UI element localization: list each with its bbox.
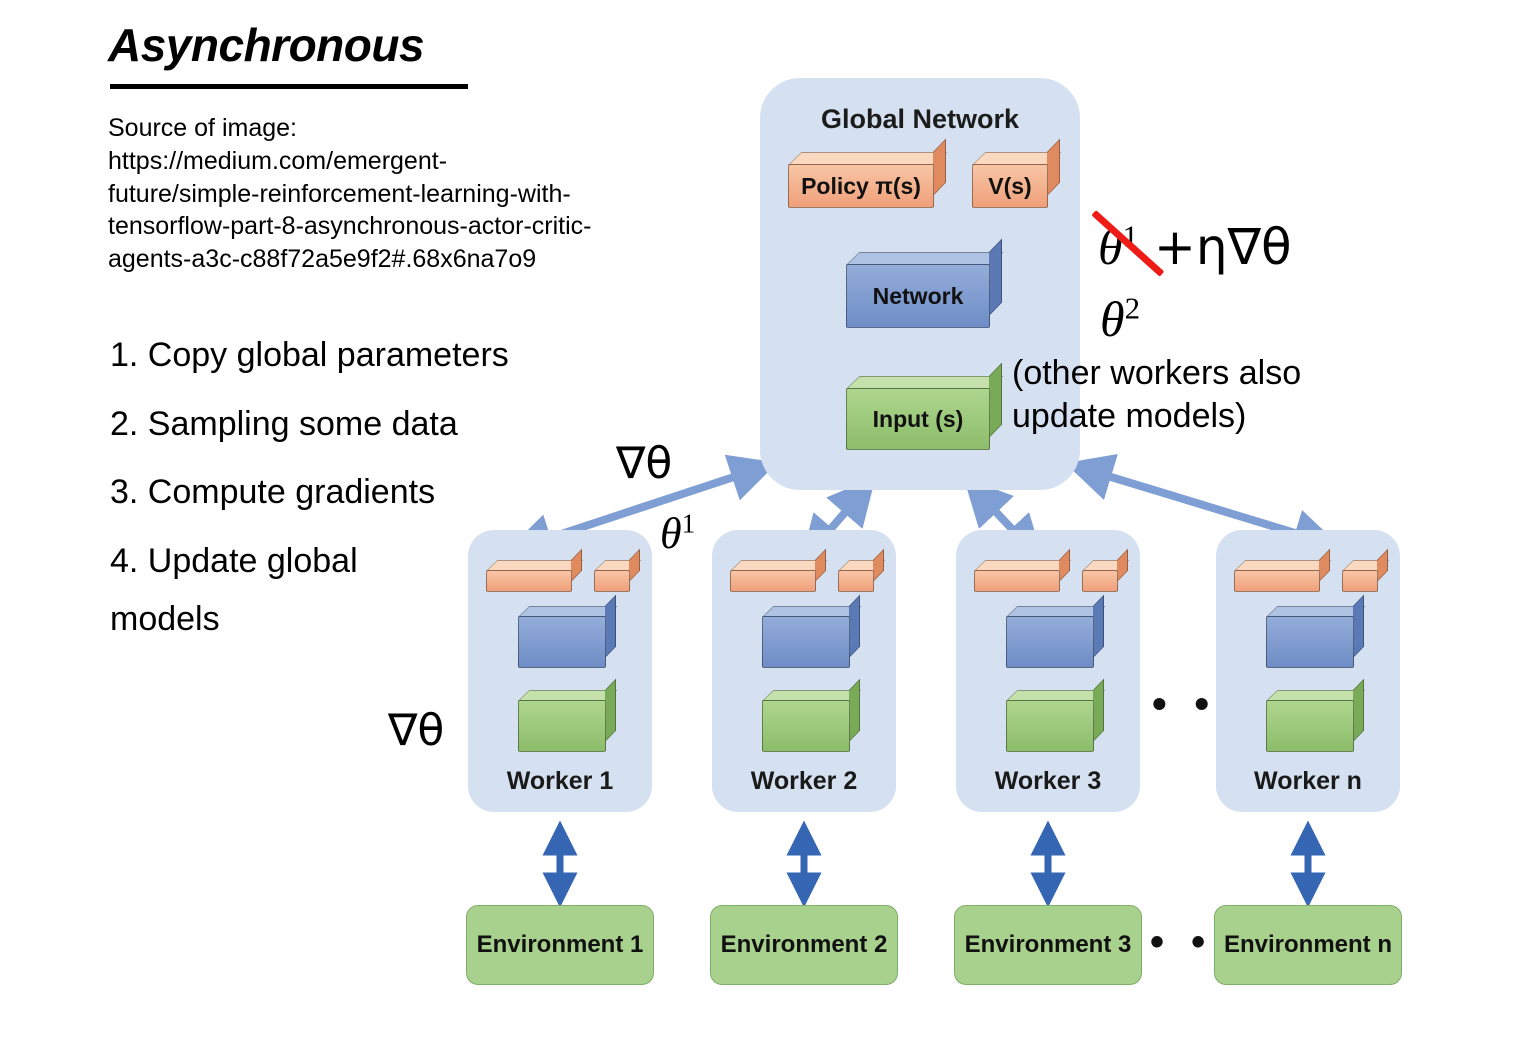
policy-box-label: Policy π(s) bbox=[788, 164, 934, 208]
gradient-label-top: ∇θ bbox=[616, 438, 672, 489]
input-box-label: Input (s) bbox=[846, 388, 990, 450]
worker-network-box[interactable] bbox=[518, 606, 616, 668]
worker-network-box[interactable] bbox=[1006, 606, 1104, 668]
worker-value-bar[interactable] bbox=[1082, 560, 1128, 592]
worker-environment-arrows bbox=[560, 838, 1308, 890]
box-front-face bbox=[1266, 700, 1354, 752]
box-front-face bbox=[1266, 616, 1354, 668]
box-front-face bbox=[838, 570, 874, 592]
box-front-face bbox=[730, 570, 816, 592]
box-front-face bbox=[594, 570, 630, 592]
step-item-4-continued: models bbox=[110, 600, 220, 639]
worker-value-bar[interactable] bbox=[838, 560, 884, 592]
worker-input-box[interactable] bbox=[762, 690, 860, 752]
step-item-1: 1. Copy global parameters bbox=[110, 336, 509, 375]
worker-value-bar[interactable] bbox=[594, 560, 640, 592]
theta2-replacement-label: θ2 bbox=[1100, 290, 1140, 348]
box-side-face bbox=[605, 595, 616, 658]
box-front-face bbox=[1082, 570, 1118, 592]
page-title: Asynchronous bbox=[108, 22, 424, 68]
worker-panel-3[interactable]: Worker 3 bbox=[956, 530, 1140, 812]
box-side-face bbox=[1093, 595, 1104, 658]
environment-box-3[interactable]: Environment 3 bbox=[954, 905, 1142, 985]
box-front-face bbox=[518, 700, 606, 752]
source-credit: Source of image: https://medium.com/emer… bbox=[108, 112, 748, 276]
box-side-face bbox=[605, 679, 616, 742]
other-workers-note: (other workers alsoupdate models) bbox=[1012, 352, 1301, 437]
worker-input-box[interactable] bbox=[518, 690, 616, 752]
worker-policy-bar[interactable] bbox=[974, 560, 1070, 592]
formula-remainder: +η∇θ bbox=[1138, 218, 1292, 276]
box-side-face bbox=[1319, 549, 1330, 582]
worker-network-box[interactable] bbox=[762, 606, 860, 668]
step-item-3: 3. Compute gradients bbox=[110, 473, 435, 512]
box-side-face bbox=[1059, 549, 1070, 582]
source-line: agents-a3c-c88f72a5e9f2#.68x6na7o9 bbox=[108, 243, 748, 276]
box-front-face bbox=[1234, 570, 1320, 592]
theta2-base: θ bbox=[1100, 291, 1125, 347]
source-line: Source of image: bbox=[108, 112, 748, 145]
step-item-2: 2. Sampling some data bbox=[110, 405, 458, 444]
box-side-face bbox=[1353, 595, 1364, 658]
box-side-face bbox=[989, 363, 1002, 438]
note-line-1: (other workers also bbox=[1012, 354, 1301, 392]
box-side-face bbox=[1353, 679, 1364, 742]
box-front-face bbox=[762, 700, 850, 752]
input-box[interactable]: Input (s) bbox=[846, 376, 1002, 450]
worker-policy-bar[interactable] bbox=[730, 560, 826, 592]
source-line: https://medium.com/emergent- bbox=[108, 145, 748, 178]
note-line-2: update models) bbox=[1012, 397, 1246, 435]
environment-box-2[interactable]: Environment 2 bbox=[710, 905, 898, 985]
network-box[interactable]: Network bbox=[846, 252, 1002, 328]
box-side-face bbox=[1377, 549, 1388, 582]
box-front-face bbox=[1006, 700, 1094, 752]
source-line: tensorflow-part-8-asynchronous-actor-cri… bbox=[108, 210, 748, 243]
theta1-arrow-base: θ bbox=[660, 509, 682, 558]
box-side-face bbox=[815, 549, 826, 582]
worker-network-box[interactable] bbox=[1266, 606, 1364, 668]
policy-box[interactable]: Policy π(s) bbox=[788, 152, 946, 208]
box-side-face bbox=[873, 549, 884, 582]
worker-label: Worker 2 bbox=[712, 767, 896, 796]
box-side-face bbox=[849, 595, 860, 658]
environment-box-n[interactable]: Environment n bbox=[1214, 905, 1402, 985]
worker-policy-bar[interactable] bbox=[486, 560, 582, 592]
environment-box-1[interactable]: Environment 1 bbox=[466, 905, 654, 985]
box-front-face bbox=[762, 616, 850, 668]
worker-input-box[interactable] bbox=[1266, 690, 1364, 752]
worker-panel-1[interactable]: Worker 1 bbox=[468, 530, 652, 812]
title-underline bbox=[110, 84, 468, 89]
value-box-label: V(s) bbox=[972, 164, 1048, 208]
source-line: future/simple-reinforcement-learning-wit… bbox=[108, 178, 748, 211]
box-front-face bbox=[1342, 570, 1378, 592]
worker-label: Worker 1 bbox=[468, 767, 652, 796]
box-front-face bbox=[974, 570, 1060, 592]
worker-input-box[interactable] bbox=[1006, 690, 1104, 752]
theta1-arrow-superscript: 1 bbox=[682, 508, 696, 538]
step-item-4: 4. Update global bbox=[110, 542, 358, 581]
box-side-face bbox=[1117, 549, 1128, 582]
box-side-face bbox=[989, 239, 1002, 316]
worker-policy-bar[interactable] bbox=[1234, 560, 1330, 592]
theta2-superscript: 2 bbox=[1125, 290, 1141, 325]
box-front-face bbox=[486, 570, 572, 592]
worker-label: Worker 3 bbox=[956, 767, 1140, 796]
gradient-label-left: ∇θ bbox=[388, 705, 444, 756]
value-box[interactable]: V(s) bbox=[972, 152, 1060, 208]
worker-value-bar[interactable] bbox=[1342, 560, 1388, 592]
worker-panel-2[interactable]: Worker 2 bbox=[712, 530, 896, 812]
theta1-arrow-label: θ1 bbox=[660, 508, 695, 559]
box-side-face bbox=[571, 549, 582, 582]
box-front-face bbox=[1006, 616, 1094, 668]
box-side-face bbox=[629, 549, 640, 582]
box-side-face bbox=[1093, 679, 1104, 742]
box-side-face bbox=[849, 679, 860, 742]
global-network-title: Global Network bbox=[760, 104, 1080, 135]
network-box-label: Network bbox=[846, 264, 990, 328]
worker-label: Worker n bbox=[1216, 767, 1400, 796]
box-front-face bbox=[518, 616, 606, 668]
worker-panel-n[interactable]: Worker n bbox=[1216, 530, 1400, 812]
